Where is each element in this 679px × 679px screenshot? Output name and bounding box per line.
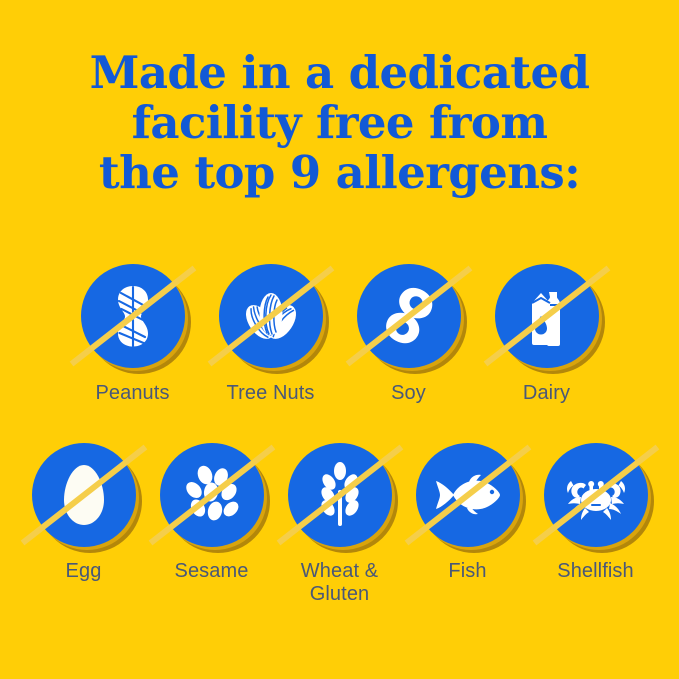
allergen-label-sesame: Sesame (175, 560, 249, 583)
allergen-label-peanuts: Peanuts (95, 382, 169, 405)
allergen-label-wheat: Wheat & Gluten (301, 560, 378, 606)
allergen-label-fish: Fish (448, 560, 486, 583)
allergen-item-peanuts: Peanuts (81, 264, 185, 405)
allergen-item-sesame: Sesame (160, 443, 264, 583)
allergen-row-1: Peanuts (0, 264, 679, 405)
egg-badge (32, 443, 136, 547)
fish-badge (416, 443, 520, 547)
allergen-label-shellfish: Shellfish (557, 560, 634, 583)
allergen-item-dairy: Dairy (495, 264, 599, 405)
allergen-item-tree-nuts: Tree Nuts (219, 264, 323, 405)
allergen-label-egg: Egg (66, 560, 102, 583)
allergen-free-poster: Made in a dedicated facility free from t… (0, 0, 679, 679)
headline-line-1: Made in a dedicated (0, 48, 679, 98)
shellfish-badge (544, 443, 648, 547)
allergen-item-egg: Egg (32, 443, 136, 583)
allergen-item-shellfish: Shellfish (544, 443, 648, 583)
page-title: Made in a dedicated facility free from t… (0, 48, 679, 198)
sesame-badge (160, 443, 264, 547)
peanuts-badge (81, 264, 185, 368)
wheat-badge (288, 443, 392, 547)
allergen-label-dairy: Dairy (523, 382, 570, 405)
soy-badge (357, 264, 461, 368)
allergen-label-tree-nuts: Tree Nuts (227, 382, 315, 405)
allergen-label-soy: Soy (391, 382, 426, 405)
allergen-item-fish: Fish (416, 443, 520, 583)
headline-line-2: facility free from (0, 98, 679, 148)
dairy-badge (495, 264, 599, 368)
headline-line-3: the top 9 allergens: (0, 148, 679, 198)
allergen-item-soy: Soy (357, 264, 461, 405)
allergen-row-2: Egg (0, 443, 679, 606)
tree-nuts-badge (219, 264, 323, 368)
allergen-item-wheat: Wheat & Gluten (288, 443, 392, 606)
